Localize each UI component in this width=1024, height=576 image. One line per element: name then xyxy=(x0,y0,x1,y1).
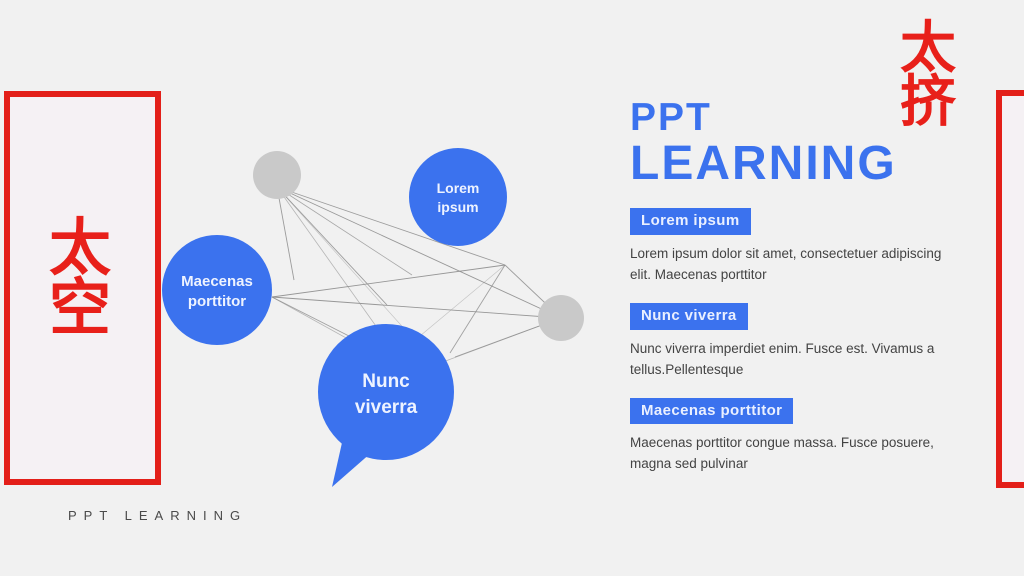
node-label-lorem-line2: ipsum xyxy=(437,199,478,215)
section-body-maecenas-porttitor: Maecenas porttitor congue massa. Fusce p… xyxy=(630,433,960,475)
page-title-line2: LEARNING xyxy=(630,139,970,189)
section-lorem-ipsum: Lorem ipsum Lorem ipsum dolor sit amet, … xyxy=(630,208,970,286)
node-label-maecenas-line2: porttitor xyxy=(188,293,246,310)
page-title: PPT LEARNING xyxy=(630,98,970,188)
node-label-maecenas-line1: Maecenas xyxy=(181,273,253,290)
footer-wordmark: PPT LEARNING xyxy=(68,508,247,523)
network-node-gray-right xyxy=(538,295,584,341)
network-node-lorem[interactable] xyxy=(409,148,507,246)
section-badge-maecenas-porttitor[interactable]: Maecenas porttitor xyxy=(630,398,793,425)
section-badge-nunc-viverra[interactable]: Nunc viverra xyxy=(630,303,748,330)
slide-canvas: 太 空 太 挤 PPT LEARNING xyxy=(0,0,1024,576)
section-body-lorem-ipsum: Lorem ipsum dolor sit amet, consectetuer… xyxy=(630,244,960,286)
network-node-gray-top xyxy=(253,151,301,199)
section-nunc-viverra: Nunc viverra Nunc viverra imperdiet enim… xyxy=(630,303,970,381)
left-chinese-heading: 太 空 xyxy=(38,218,122,337)
node-label-nunc-line2: viverra xyxy=(355,397,418,418)
network-diagram: Maecenas porttitor Lorem ipsum Nunc vive… xyxy=(150,125,620,495)
network-node-nunc[interactable] xyxy=(318,324,454,460)
section-maecenas-porttitor: Maecenas porttitor Maecenas porttitor co… xyxy=(630,398,970,476)
section-badge-lorem-ipsum[interactable]: Lorem ipsum xyxy=(630,208,751,235)
node-label-lorem-line1: Lorem xyxy=(437,180,480,196)
page-title-line1: PPT xyxy=(630,98,970,139)
section-body-nunc-viverra: Nunc viverra imperdiet enim. Fusce est. … xyxy=(630,339,960,381)
network-node-maecenas[interactable] xyxy=(162,235,272,345)
node-label-nunc-line1: Nunc xyxy=(362,371,410,392)
content-column: PPT LEARNING Lorem ipsum Lorem ipsum dol… xyxy=(630,98,970,492)
right-red-frame xyxy=(996,90,1024,488)
